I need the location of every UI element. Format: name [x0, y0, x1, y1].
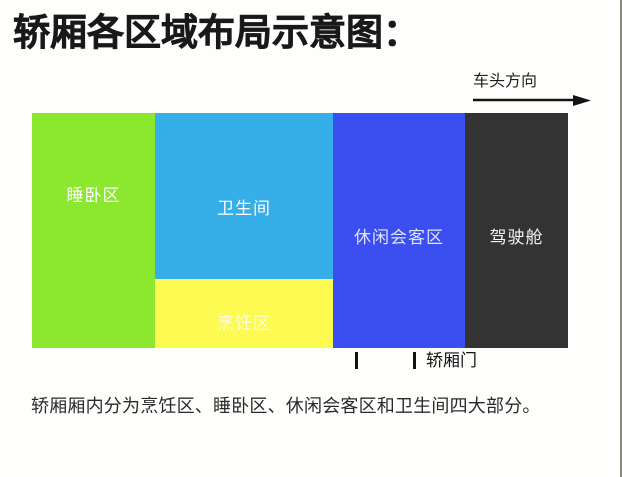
zone-sleeping-area[interactable]: 睡卧区: [32, 113, 155, 348]
zone-kitchen-area[interactable]: 烹饪区: [155, 279, 333, 348]
page-title: 轿厢各区域布局示意图：: [13, 9, 420, 57]
door-tick-icon-left: [355, 352, 358, 369]
cabin-layout-diagram: 睡卧区 卫生间 烹饪区 休闲会客区 驾驶舱: [32, 113, 568, 348]
zone-bathroom[interactable]: 卫生间: [155, 113, 333, 279]
slide-canvas: 轿厢各区域布局示意图： 车头方向 睡卧区 卫生间 烹饪区 休闲会客区 驾驶舱 轿…: [0, 0, 622, 477]
caption-text: 轿厢厢内分为烹饪区、睡卧区、休闲会客区和卫生间四大部分。: [31, 393, 591, 420]
zone-label-cockpit: 驾驶舱: [490, 223, 544, 248]
front-direction-label: 车头方向: [473, 72, 537, 90]
arrow-right-icon: [473, 95, 591, 107]
cabin-door-label: 轿厢门: [426, 351, 477, 371]
zone-lounge-area[interactable]: 休闲会客区: [333, 113, 465, 348]
front-direction-indicator: 车头方向: [473, 72, 598, 108]
door-tick-icon-right: [413, 352, 416, 369]
zone-cockpit[interactable]: 驾驶舱: [465, 113, 568, 348]
zone-label-bathroom: 卫生间: [217, 194, 271, 219]
zone-label-lounge-area: 休闲会客区: [354, 223, 444, 248]
cabin-door-marker: 轿厢门: [350, 350, 520, 376]
zone-label-kitchen-area: 烹饪区: [217, 309, 271, 334]
zone-label-sleeping-area: 睡卧区: [67, 181, 121, 206]
